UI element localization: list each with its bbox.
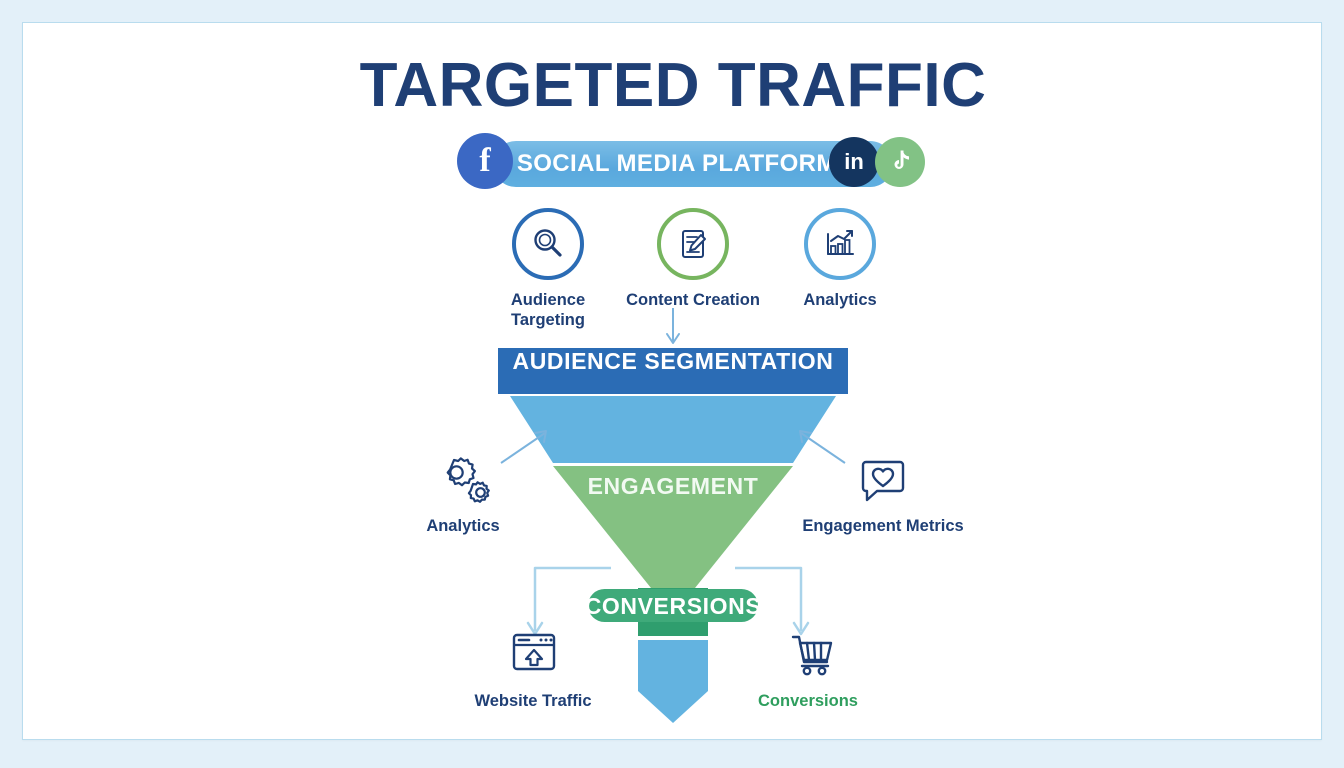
browser-uparrow-icon: [448, 623, 618, 685]
top-item-label: Content Creation: [618, 290, 768, 310]
side-item-label: Analytics: [378, 516, 548, 536]
social-media-badge: SOCIAL MEDIA PLATFORMS f in: [433, 133, 923, 195]
side-item-website-traffic[interactable]: Website Traffic: [448, 623, 618, 711]
side-item-label: Engagement Metrics: [798, 516, 968, 536]
chat-heart-icon: [798, 448, 968, 510]
top-item-audience-targeting[interactable]: Audience Targeting: [473, 208, 623, 330]
funnel-stage-light-blue: [510, 396, 836, 463]
funnel-label-audience-segmentation: AUDIENCE SEGMENTATION: [423, 348, 923, 375]
linkedin-icon[interactable]: in: [829, 137, 879, 187]
top-item-content-creation[interactable]: Content Creation: [618, 208, 768, 310]
facebook-icon[interactable]: f: [457, 133, 513, 189]
side-item-conversions[interactable]: Conversions: [723, 623, 893, 711]
top-icon-row: Audience Targeting Content Creation: [473, 208, 913, 358]
bar-chart-icon: [804, 208, 876, 280]
funnel-graphic: [23, 23, 1323, 741]
funnel-label-conversions: CONVERSIONS: [423, 593, 923, 620]
infographic-page: TARGETED TRAFFIC SOCIAL MEDIA PLATFORMS …: [0, 0, 1344, 768]
side-item-label: Conversions: [723, 691, 893, 711]
page-title: TARGETED TRAFFIC: [23, 53, 1323, 118]
side-item-engagement-metrics[interactable]: Engagement Metrics: [798, 448, 968, 536]
top-item-label: Audience Targeting: [473, 290, 623, 330]
infographic-card: TARGETED TRAFFIC SOCIAL MEDIA PLATFORMS …: [22, 22, 1322, 740]
shopping-cart-icon: [723, 623, 893, 685]
tiktok-icon[interactable]: [875, 137, 925, 187]
funnel-stage-output-arrow: [638, 640, 708, 723]
top-item-analytics[interactable]: Analytics: [765, 208, 915, 310]
document-pencil-icon: [657, 208, 729, 280]
side-item-label: Website Traffic: [448, 691, 618, 711]
gears-icon: [378, 448, 548, 510]
magnifier-icon: [512, 208, 584, 280]
top-item-label: Analytics: [765, 290, 915, 310]
side-item-analytics[interactable]: Analytics: [378, 448, 548, 536]
